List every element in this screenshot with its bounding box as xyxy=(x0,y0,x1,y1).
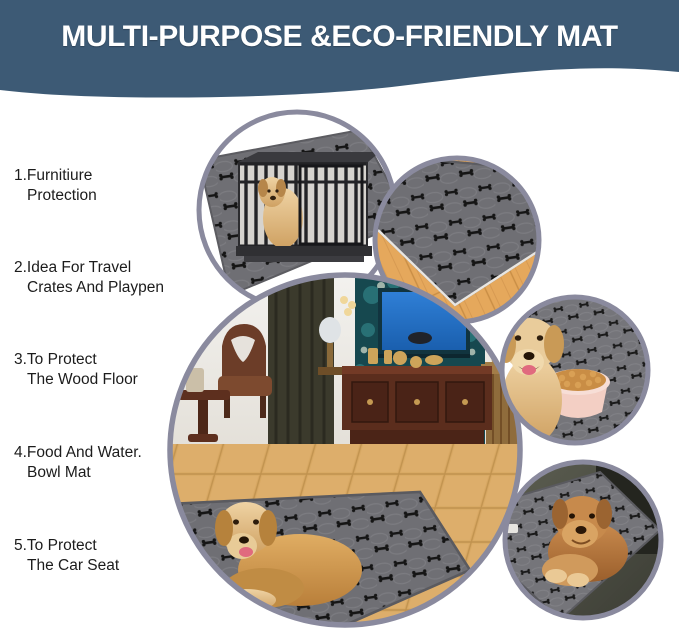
photo-dog-in-living-room-on-mat xyxy=(150,268,530,642)
photo-puppy-on-car-seat-mat xyxy=(498,458,670,628)
page-title: MULTI-PURPOSE &ECO-FRIENDLY MAT xyxy=(0,20,679,54)
photo-collage xyxy=(0,100,679,642)
header-banner: MULTI-PURPOSE &ECO-FRIENDLY MAT xyxy=(0,0,679,100)
product-infographic: MULTI-PURPOSE &ECO-FRIENDLY MAT 1.Furnit… xyxy=(0,0,679,642)
